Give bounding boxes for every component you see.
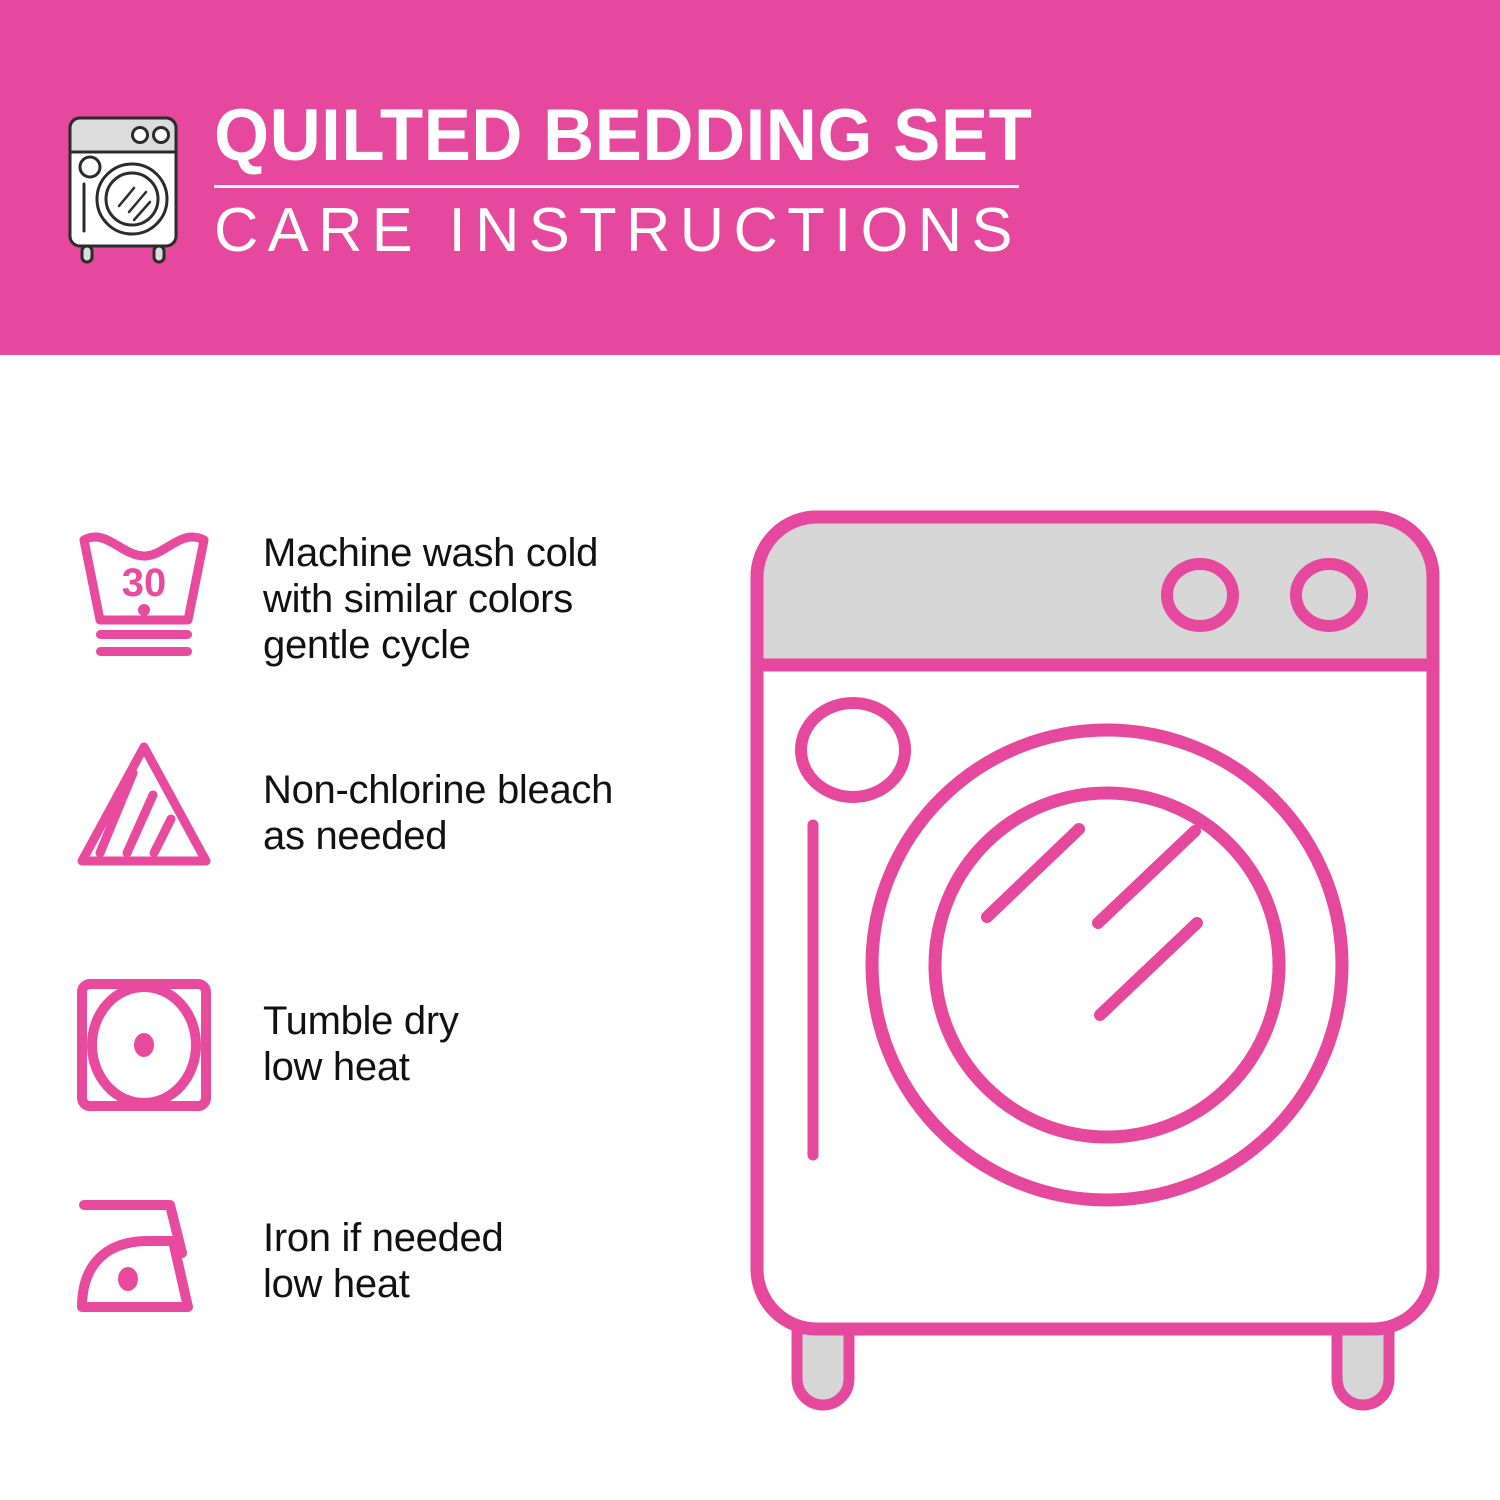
care-label: Tumble dry low heat <box>263 998 730 1090</box>
care-row: Non-chlorine bleach as needed <box>70 733 730 883</box>
care-label-line: Tumble dry <box>263 998 730 1044</box>
care-label-line: gentle cycle <box>263 622 730 668</box>
care-label: Iron if needed low heat <box>263 1215 730 1307</box>
front-load-washing-machine-illustration <box>735 495 1455 1445</box>
care-label-line: Machine wash cold <box>263 530 730 576</box>
wash-temp-value: 30 <box>122 561 167 605</box>
care-label-line: as needed <box>263 813 730 859</box>
care-label: Machine wash cold with similar colors ge… <box>263 530 730 668</box>
header-titles: QUILTED BEDDING SET CARE INSTRUCTIONS <box>214 96 1058 264</box>
knob-left <box>1167 564 1233 626</box>
page-subtitle: CARE INSTRUCTIONS <box>214 198 1049 264</box>
door-inner-ring <box>935 793 1279 1137</box>
care-row: 30 Machine wash cold with similar colors… <box>70 520 730 670</box>
page-title: QUILTED BEDDING SET <box>214 96 1032 176</box>
tumble-dry-low-heat-icon <box>70 970 235 1120</box>
knob-right <box>1296 564 1362 626</box>
iron-low-heat-icon <box>70 1185 235 1335</box>
title-divider <box>214 185 1019 188</box>
care-row: Iron if needed low heat <box>70 1185 730 1335</box>
care-row: Tumble dry low heat <box>70 970 730 1120</box>
wash-tub-30-gentle-icon: 30 <box>70 520 235 670</box>
header-band: QUILTED BEDDING SET CARE INSTRUCTIONS <box>0 0 1500 355</box>
care-instructions-list: 30 Machine wash cold with similar colors… <box>0 355 740 1500</box>
care-label-line: low heat <box>263 1044 730 1090</box>
care-label: Non-chlorine bleach as needed <box>263 767 730 859</box>
washing-machine-icon <box>62 104 190 264</box>
bleach-triangle-nonchlorine-icon <box>70 733 235 883</box>
care-label-line: with similar colors <box>263 576 730 622</box>
care-label-line: Non-chlorine bleach <box>263 767 730 813</box>
header-content: QUILTED BEDDING SET CARE INSTRUCTIONS <box>62 96 1042 276</box>
care-instructions-page: QUILTED BEDDING SET CARE INSTRUCTIONS 30 <box>0 0 1500 1500</box>
care-label-line: low heat <box>263 1261 730 1307</box>
care-label-line: Iron if needed <box>263 1215 730 1261</box>
detergent-drawer-circle <box>801 703 905 797</box>
